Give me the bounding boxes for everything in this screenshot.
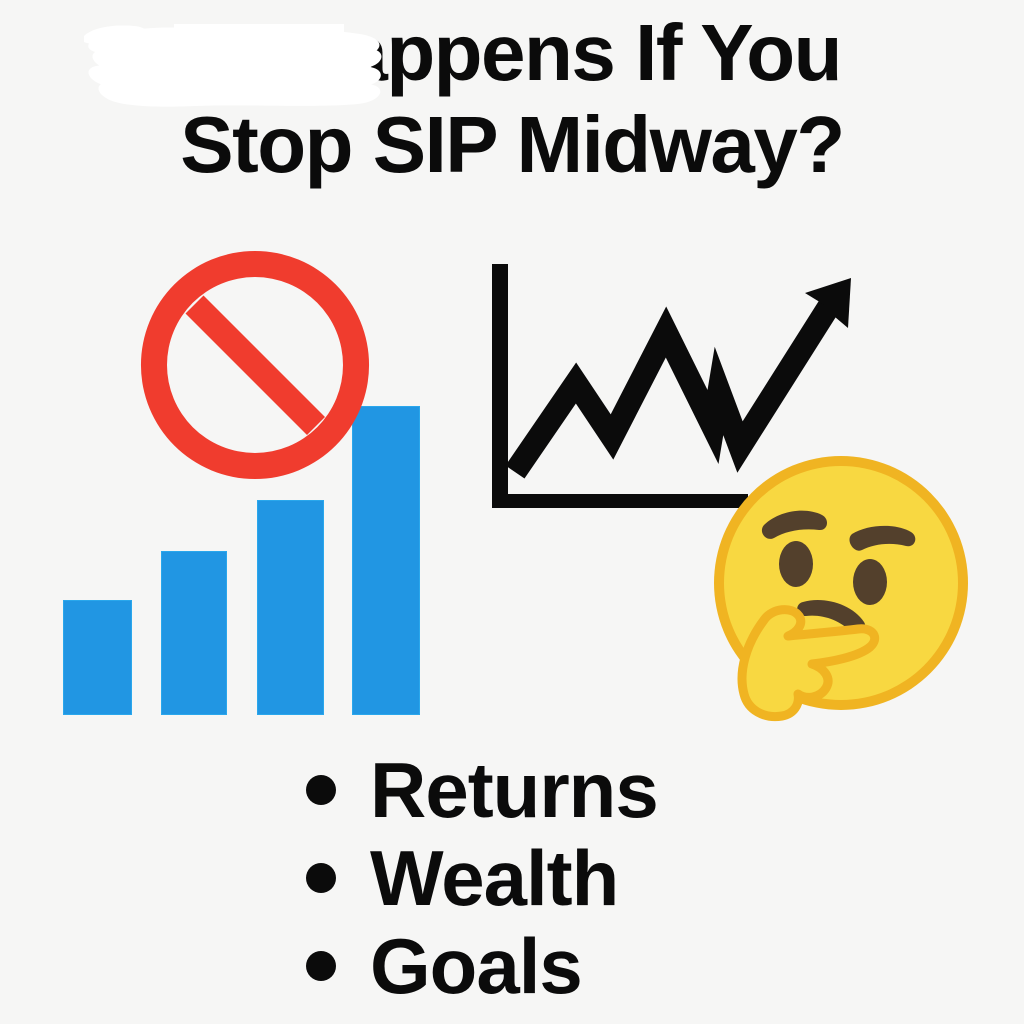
trend-line (515, 300, 833, 472)
bar-2 (161, 551, 227, 715)
bullet-label-returns: Returns (370, 751, 658, 829)
bullet-label-goals: Goals (370, 927, 582, 1005)
page-title-line-2: Stop SIP Midway? (0, 106, 1024, 184)
bullet-dot-icon (306, 775, 336, 805)
bar-3 (257, 500, 324, 715)
list-item: Wealth (306, 834, 866, 922)
list-item: Returns (306, 746, 866, 834)
bullet-dot-icon (306, 951, 336, 981)
eye-right-icon (853, 559, 887, 605)
list-item: Goals (306, 922, 866, 1010)
bullet-list: Returns Wealth Goals (306, 746, 866, 1010)
thinking-face-emoji (702, 452, 980, 730)
page-title: Happens If You Stop SIP Midway? (0, 14, 1024, 185)
poster-canvas: Happens If You Stop SIP Midway? (0, 0, 1024, 1024)
bullet-label-wealth: Wealth (370, 839, 618, 917)
bar-1 (63, 600, 132, 715)
bullet-dot-icon (306, 863, 336, 893)
eye-left-icon (779, 541, 813, 587)
page-title-line-1: Happens If You (0, 14, 1024, 92)
prohibition-no-entry-icon (139, 249, 371, 481)
